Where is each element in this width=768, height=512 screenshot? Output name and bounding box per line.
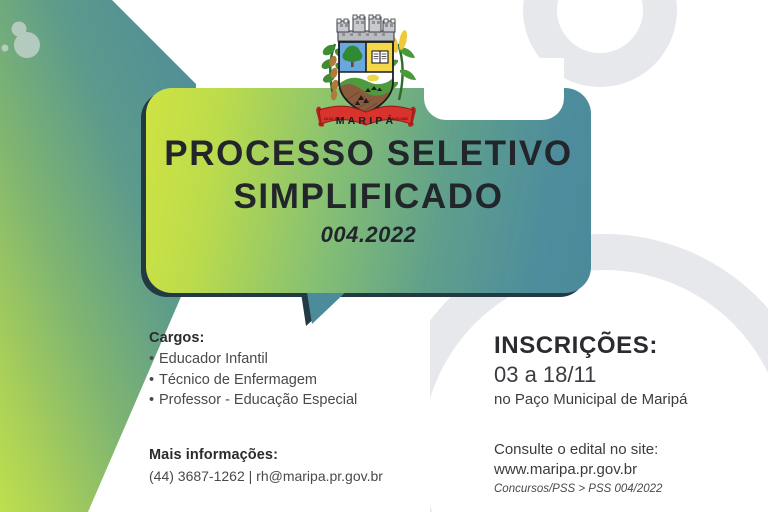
cargo-item-2-label: Técnico de Enfermagem (159, 372, 317, 388)
bullet-icon: • (149, 349, 159, 370)
inscricoes-block: INSCRIÇÕES: 03 a 18/11 no Paço Municipal… (494, 333, 764, 409)
edital-site[interactable]: www.maripa.pr.gov.br (494, 460, 768, 480)
inscricoes-place: no Paço Municipal de Maripá (494, 390, 764, 410)
cargo-item-1: •Educador Infantil (149, 349, 449, 370)
contact-line: (44) 3687-1262 | rh@maripa.pr.gov.br (149, 466, 469, 486)
headline-number: 004.2022 (321, 222, 417, 248)
cargo-item-3-label: Professor - Educação Especial (159, 392, 357, 408)
ribbon-date-right: 08-03-1962 (390, 117, 408, 121)
shield (339, 42, 393, 117)
headline-line-2: SIMPLIFICADO (233, 176, 503, 219)
edital-label: Consulte o edital no site: (494, 440, 768, 460)
mural-crown-icon (337, 15, 395, 41)
book-icon (372, 51, 388, 63)
ribbon-motto: MARIPÁ (336, 114, 397, 127)
inscricoes-period: 03 a 18/11 (494, 362, 764, 388)
inscricoes-label: INSCRIÇÕES: (494, 333, 764, 360)
bullet-icon: • (149, 370, 159, 391)
cargo-item-1-label: Educador Infantil (159, 351, 268, 367)
cargos-label: Cargos: (149, 330, 449, 346)
ribbon-date-left: 28-09-1961 (324, 117, 342, 121)
edital-block: Consulte o edital no site: www.maripa.pr… (494, 440, 768, 496)
bullet-icon: • (149, 390, 159, 411)
cargo-item-2: •Técnico de Enfermagem (149, 370, 449, 391)
edital-path: Concursos/PSS > PSS 004/2022 (494, 482, 768, 497)
poster-canvas: PROCESSO SELETIVO SIMPLIFICADO 004.2022 (0, 0, 768, 512)
mais-informacoes-block: Mais informações: (44) 3687-1262 | rh@ma… (149, 447, 469, 486)
cargos-block: Cargos: •Educador Infantil •Técnico de E… (149, 330, 449, 411)
mais-informacoes-label: Mais informações: (149, 447, 469, 463)
headline-line-1: PROCESSO SELETIVO (164, 133, 572, 176)
coat-of-arms-maripa: MARIPÁ 28-09-1961 08-03-1962 (303, 4, 429, 132)
cargo-item-3: •Professor - Educação Especial (149, 390, 449, 411)
